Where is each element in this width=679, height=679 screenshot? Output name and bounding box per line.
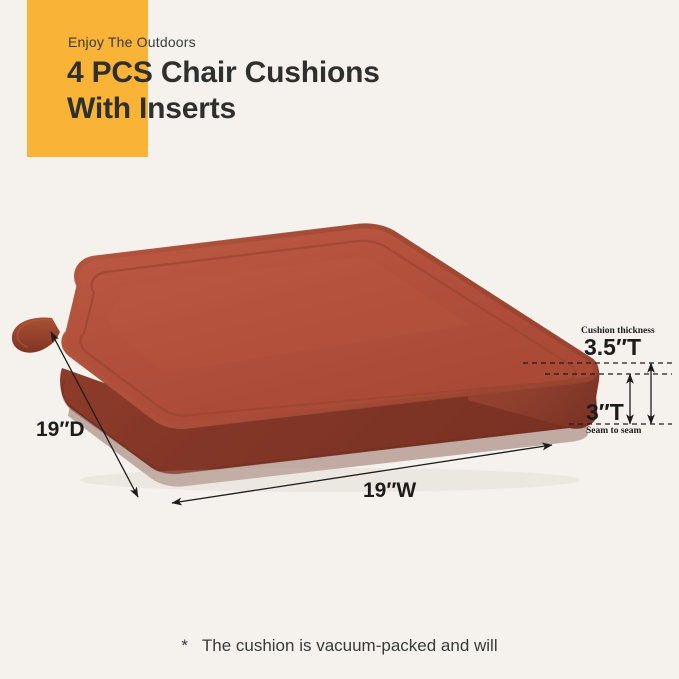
- total-thickness-label: 3.5″T: [584, 334, 641, 361]
- footnote-line-1: * The cushion is vacuum-packed and will: [0, 632, 679, 659]
- cushion-ground-shadow: [80, 468, 580, 492]
- depth-dimension-label: 19″D: [36, 418, 85, 442]
- product-infographic: Enjoy The Outdoors 4 PCS Chair Cushions …: [0, 0, 679, 679]
- page-title: 4 PCS Chair Cushions With Inserts: [67, 55, 380, 127]
- footnote: * The cushion is vacuum-packed and will …: [0, 578, 679, 679]
- product-image: [0, 200, 679, 530]
- seam-thickness-label: 3″T: [586, 399, 624, 426]
- seam-to-seam-caption: Seam to seam: [586, 426, 641, 436]
- header-eyebrow: Enjoy The Outdoors: [68, 34, 196, 50]
- cushion-tie-strap: [12, 318, 60, 353]
- width-dimension-label: 19″W: [363, 479, 416, 503]
